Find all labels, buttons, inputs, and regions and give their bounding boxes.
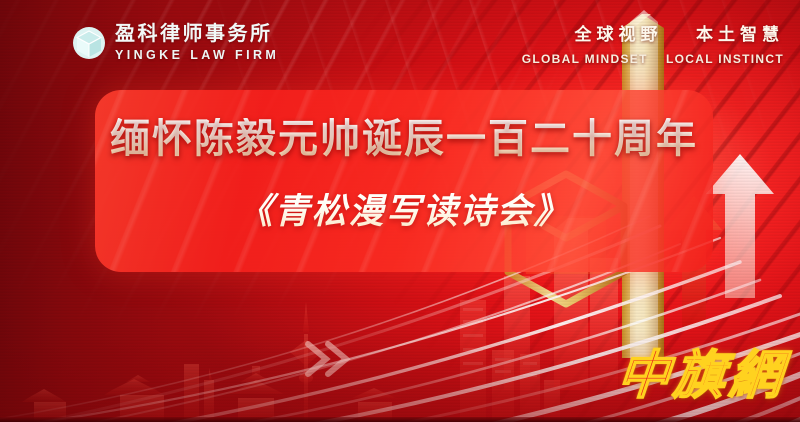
sub-title: 《青松漫写读诗会》: [95, 183, 713, 234]
slogan-en-left: GLOBAL MINDSET: [522, 52, 648, 66]
firm-name-en: YINGKE LAW FIRM: [115, 49, 279, 62]
slogan-group: 全球视野 本土智慧 GLOBAL MINDSET LOCAL INSTINCT: [522, 20, 784, 66]
site-watermark: 中旗網: [615, 333, 790, 408]
slogan-en: GLOBAL MINDSET LOCAL INSTINCT: [522, 52, 784, 66]
main-title: 缅怀陈毅元帅诞辰一百二十周年: [95, 118, 713, 161]
firm-logo[interactable]: 盈科律师事务所 YINGKE LAW FIRM: [72, 24, 279, 62]
firm-logo-text: 盈科律师事务所 YINGKE LAW FIRM: [115, 24, 279, 62]
slogan-cn-left: 全球视野: [575, 25, 663, 44]
headline-group: 缅怀陈毅元帅诞辰一百二十周年 《青松漫写读诗会》: [95, 118, 713, 234]
firm-name-cn: 盈科律师事务所: [115, 24, 279, 44]
banner-image: 缅怀陈毅元帅诞辰一百二十周年 《青松漫写读诗会》 盈科律师事务所 YINGKE …: [0, 0, 800, 422]
bottom-border: [0, 417, 800, 422]
slogan-cn-right: 本土智慧: [696, 25, 784, 44]
slogan-en-right: LOCAL INSTINCT: [666, 52, 784, 66]
slogan-cn: 全球视野 本土智慧: [522, 20, 784, 45]
yingke-cube-icon: [72, 26, 106, 60]
